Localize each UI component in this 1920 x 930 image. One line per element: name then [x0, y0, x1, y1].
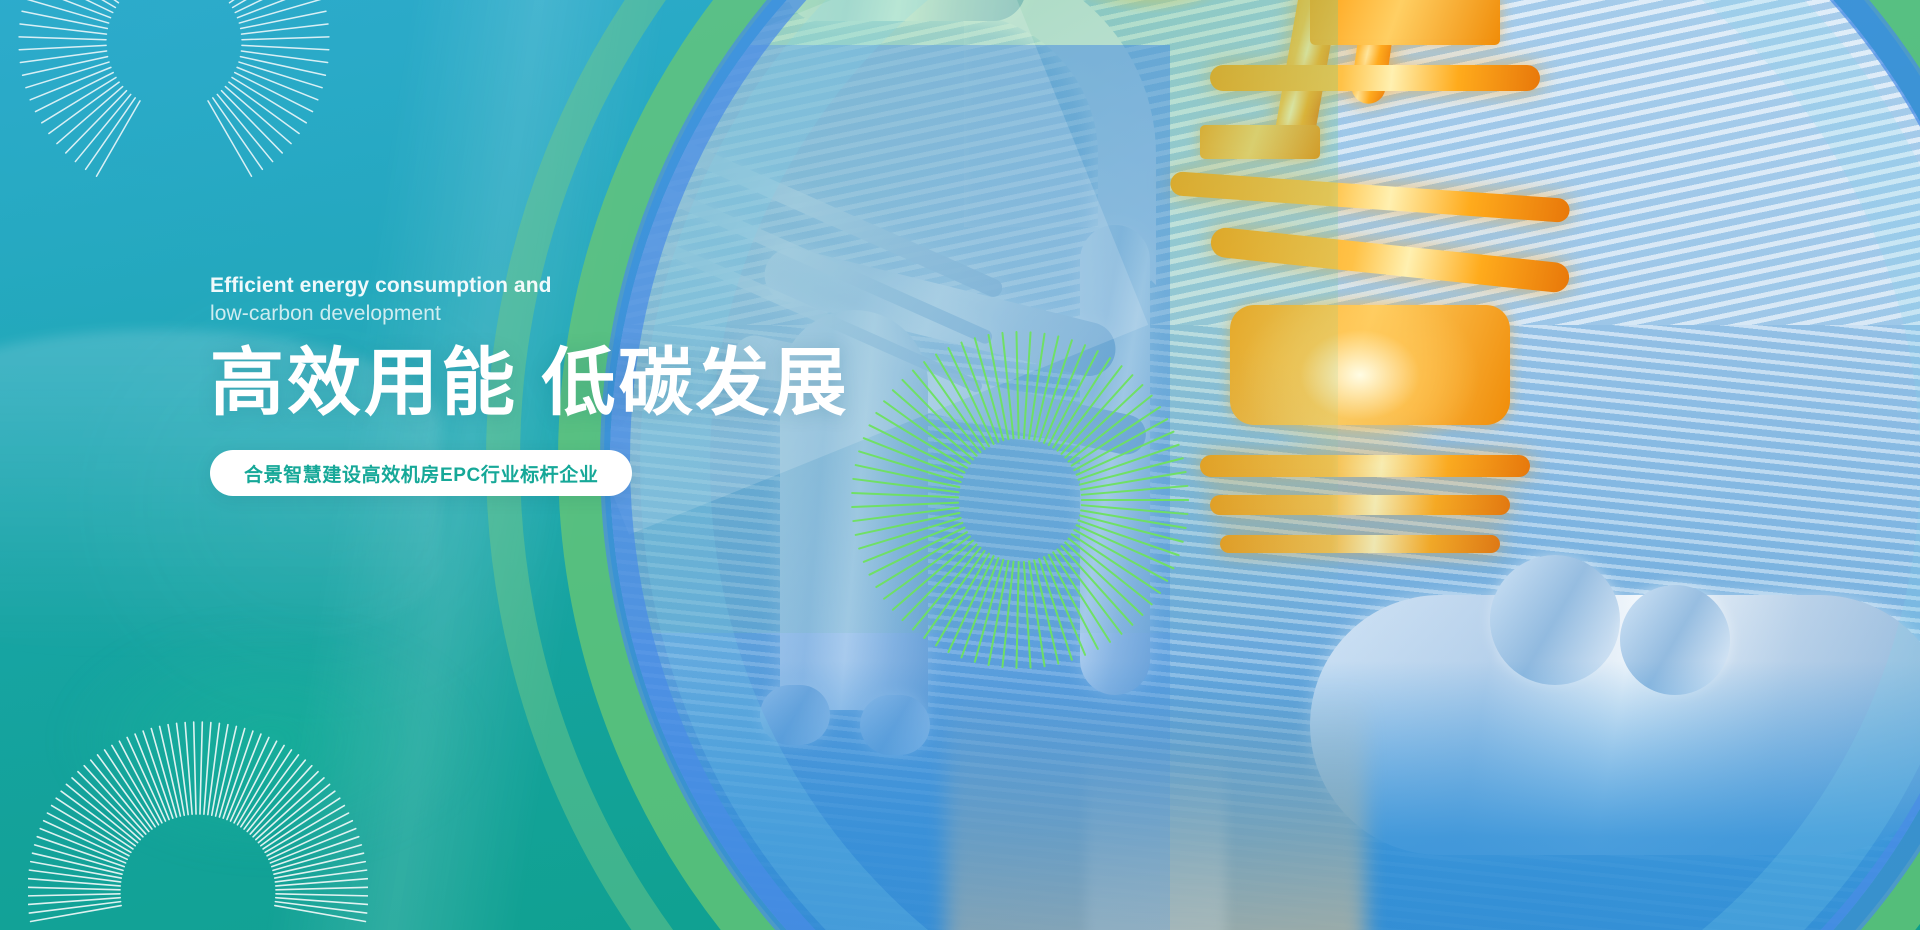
page-title: 高效用能 低碳发展 — [210, 345, 850, 422]
eyebrow-line-1: Efficient energy consumption and — [210, 272, 850, 300]
tagline-pill-button[interactable]: 合景智慧建设高效机房EPC行业标杆企业 — [210, 450, 632, 496]
eyebrow-text: Efficient energy consumption and low-car… — [210, 272, 850, 327]
hero-copy: Efficient energy consumption and low-car… — [210, 272, 850, 496]
eyebrow-line-2: low-carbon development — [210, 300, 850, 328]
hero-banner: Efficient energy consumption and low-car… — [0, 0, 1920, 930]
